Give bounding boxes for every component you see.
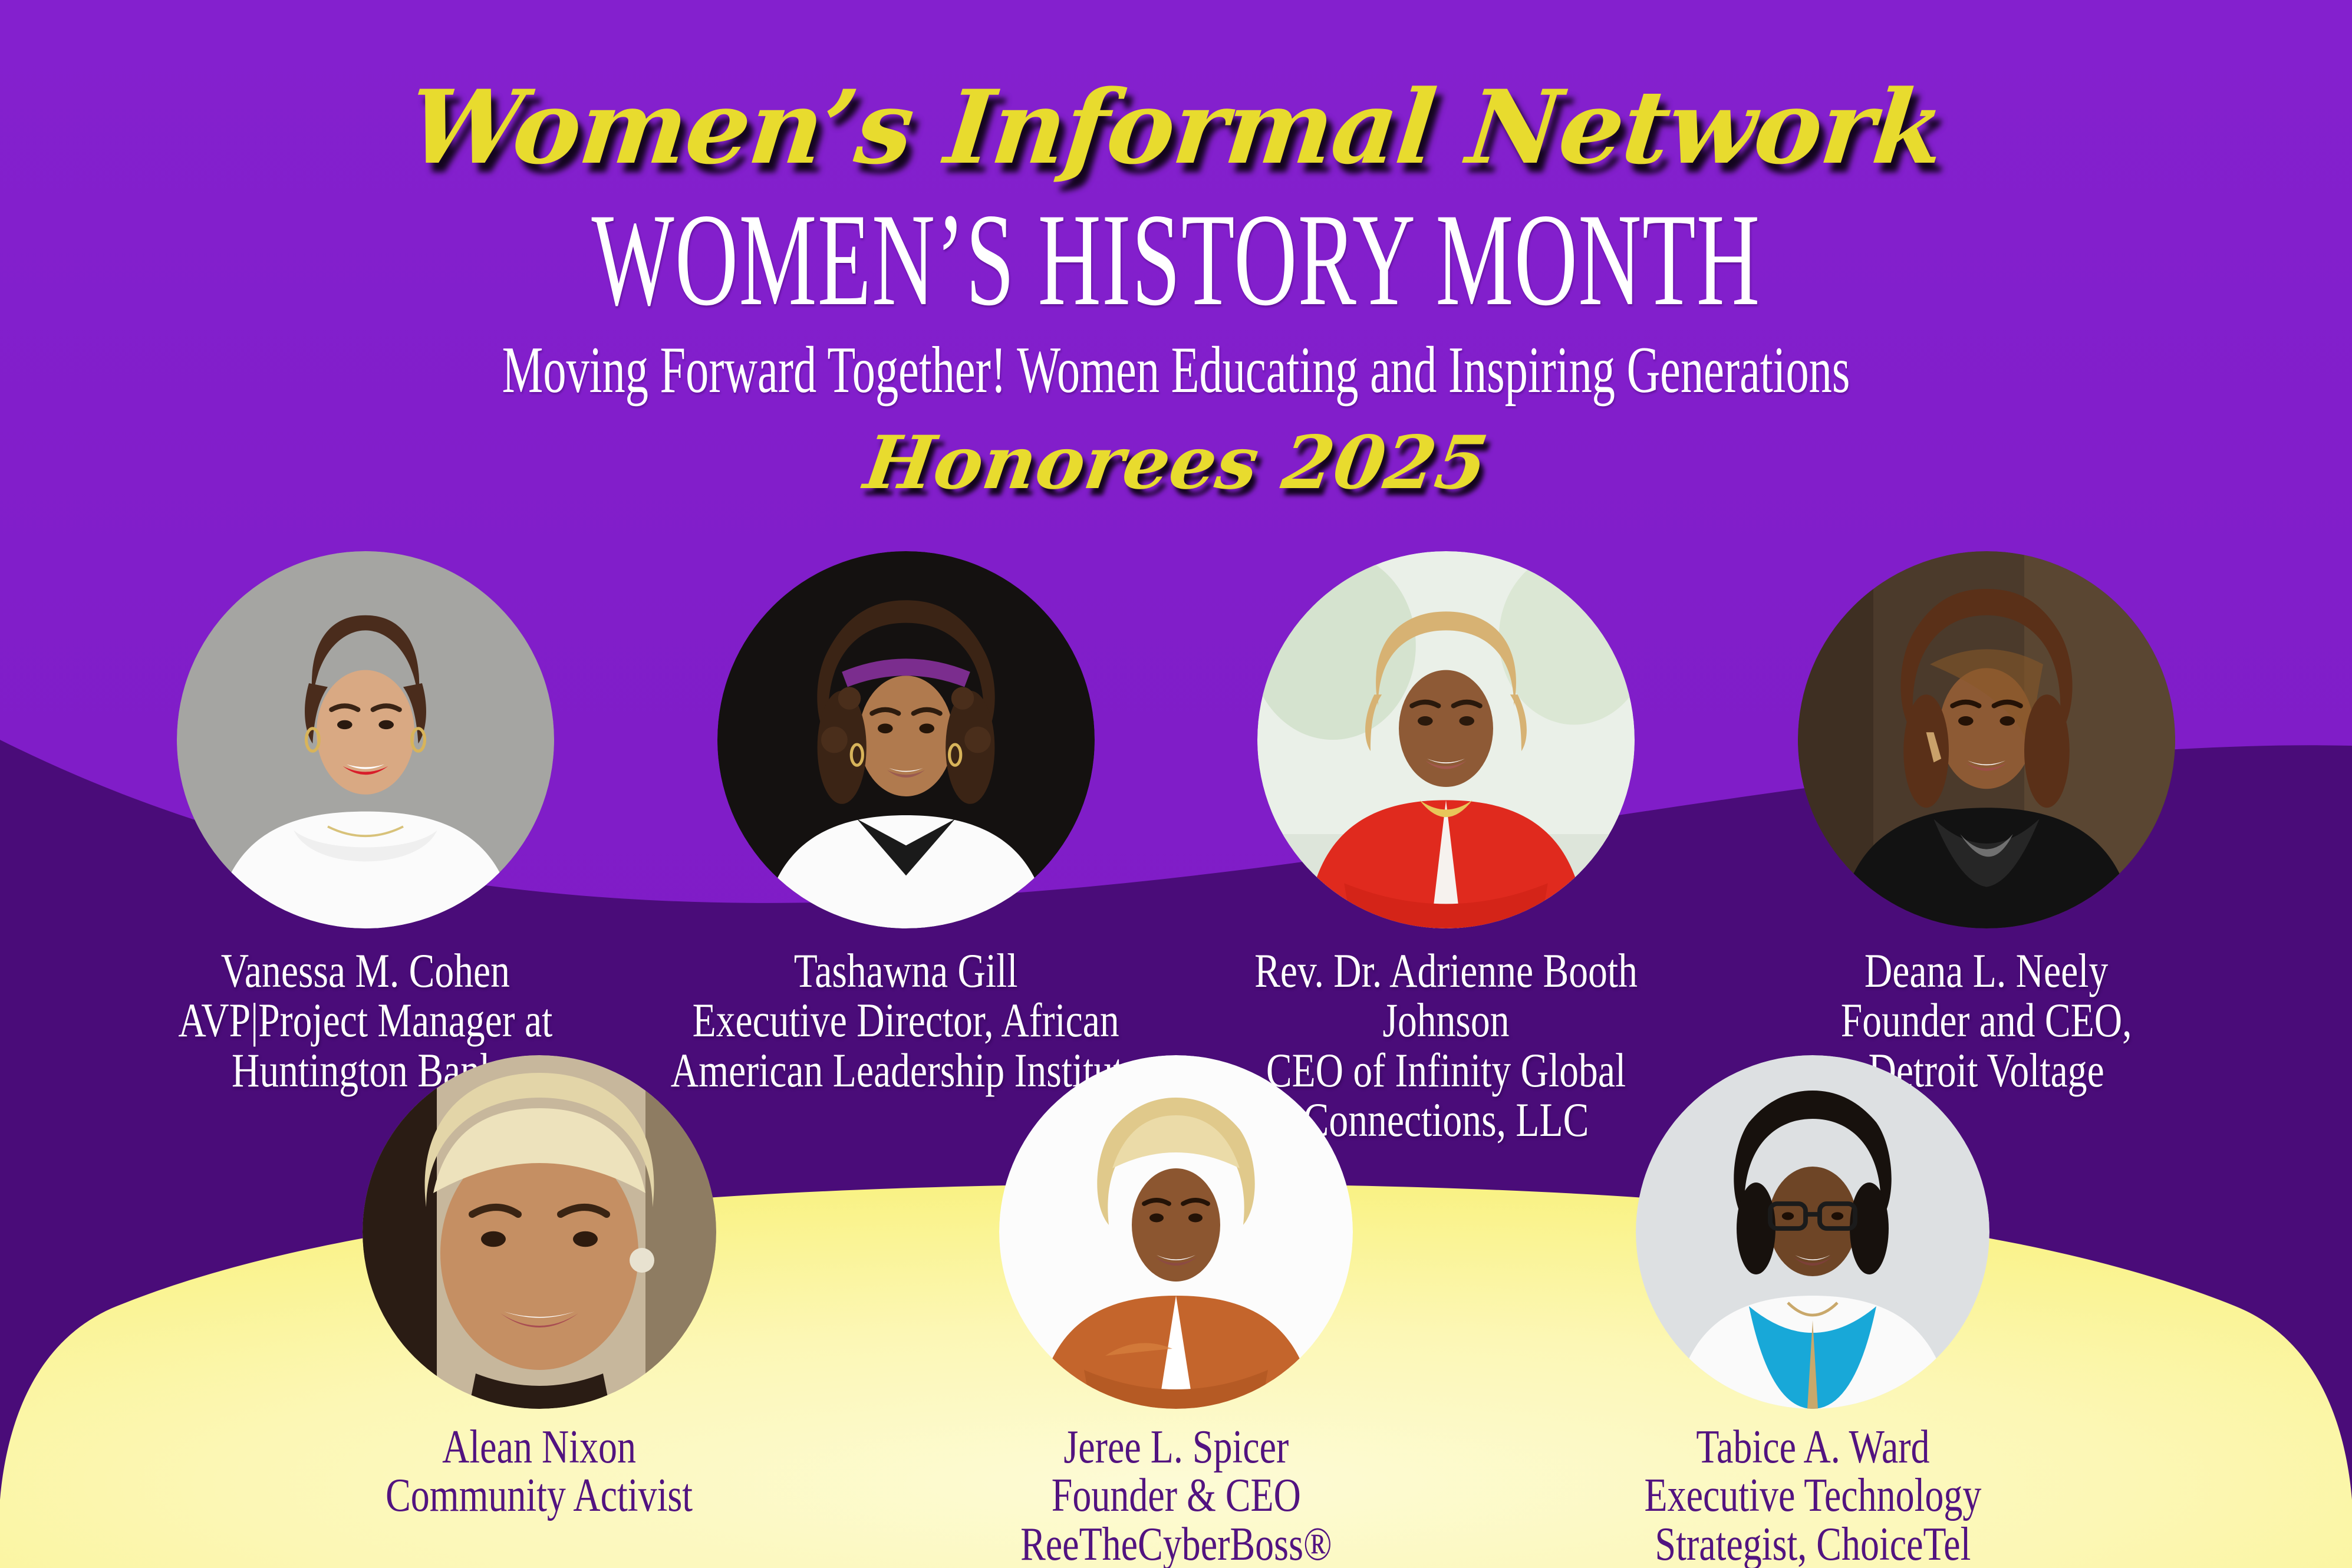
honoree-row-bottom: Alean Nixon Community Activist xyxy=(0,1055,2352,1568)
poster-canvas: Women’s Informal Network WOMEN’S HISTORY… xyxy=(0,0,2352,1568)
portrait-jeree-l-spicer xyxy=(999,1055,1353,1409)
portrait-vanessa-m-cohen xyxy=(177,551,554,928)
caption-wrap: Jeree L. Spicer Founder & CEO ReeTheCybe… xyxy=(881,1409,1471,1568)
honoree-card-alean-nixon[interactable]: Alean Nixon Community Activist xyxy=(345,1055,734,1568)
honorees-label: Honorees 2025 xyxy=(0,427,2352,500)
avatar-deana-l-neely xyxy=(1798,551,2175,928)
avatar-tabice-a-ward xyxy=(1636,1055,1989,1409)
page-title: WOMEN’S HISTORY MONTH xyxy=(400,196,1952,323)
caption-wrap: Alean Nixon Community Activist xyxy=(245,1409,834,1520)
honoree-caption: Alean Nixon Community Activist xyxy=(386,1423,693,1520)
brand-title: Women’s Informal Network xyxy=(0,77,2352,178)
caption-wrap: Tabice A. Ward Executive Technology Stra… xyxy=(1518,1409,2107,1568)
avatar-tashawna-gill xyxy=(717,551,1095,928)
poster-header: Women’s Informal Network WOMEN’S HISTORY… xyxy=(0,0,2352,500)
honoree-card-tabice-a-ward[interactable]: Tabice A. Ward Executive Technology Stra… xyxy=(1618,1055,2007,1568)
portrait-alean-nixon xyxy=(363,1055,716,1409)
portrait-tashawna-gill xyxy=(717,551,1095,928)
portrait-tabice-a-ward xyxy=(1636,1055,1989,1409)
tagline: Moving Forward Together! Women Educating… xyxy=(353,336,1999,406)
avatar-jeree-l-spicer xyxy=(999,1055,1353,1409)
honoree-card-jeree-l-spicer[interactable]: Jeree L. Spicer Founder & CEO ReeTheCybe… xyxy=(981,1055,1371,1568)
avatar-vanessa-m-cohen xyxy=(177,551,554,928)
portrait-deana-l-neely xyxy=(1798,551,2175,928)
honoree-caption: Jeree L. Spicer Founder & CEO ReeTheCybe… xyxy=(1020,1423,1332,1568)
honoree-caption: Tabice A. Ward Executive Technology Stra… xyxy=(1644,1423,1981,1568)
avatar-alean-nixon xyxy=(363,1055,716,1409)
portrait-adrienne-booth-johnson xyxy=(1257,551,1635,928)
avatar-adrienne-booth-johnson xyxy=(1257,551,1635,928)
